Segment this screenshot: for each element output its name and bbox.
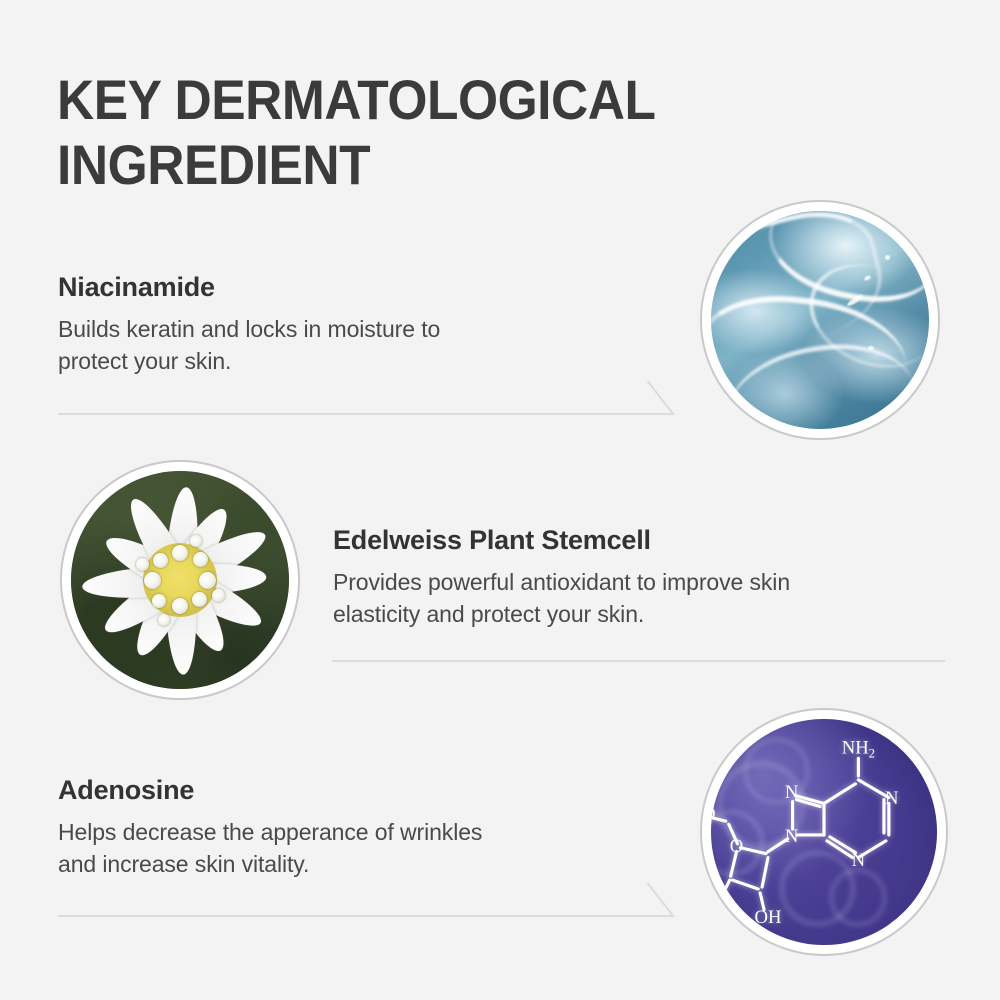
media-circle-niacinamide xyxy=(700,200,940,440)
flower-floret xyxy=(136,558,149,571)
edelweiss-flower-photo xyxy=(71,471,289,689)
flower-floret xyxy=(172,545,188,561)
page-title: KEY DERMATOLOGICAL INGREDIENT xyxy=(57,68,793,198)
flower-floret xyxy=(152,594,166,608)
molecule-label-ho-3prime: HO xyxy=(711,895,727,916)
ingredient-name-adenosine: Adenosine xyxy=(58,775,658,806)
infographic-page: KEY DERMATOLOGICAL INGREDIENT Niacinamid… xyxy=(0,0,1000,1000)
connector-elbow-1 xyxy=(647,380,675,415)
flower-floret xyxy=(193,552,208,567)
ingredient-name-niacinamide: Niacinamide xyxy=(58,272,658,303)
flower-floret xyxy=(144,572,161,589)
flower-floret xyxy=(199,572,216,589)
ingredient-description-niacinamide: Builds keratin and locks in moisture to … xyxy=(58,314,658,377)
adenosine-molecule-diagram: NH2 N N N N O HO HO OH xyxy=(711,719,937,945)
molecule-label-n1: N xyxy=(885,788,899,809)
flower-floret xyxy=(158,614,170,626)
water-gel-texture-photo xyxy=(711,211,929,429)
divider-line-3 xyxy=(58,915,674,917)
flower-floret xyxy=(153,553,168,568)
molecule-label-n3: N xyxy=(852,850,866,871)
ingredient-block-adenosine: Adenosine Helps decrease the apperance o… xyxy=(58,775,658,880)
ingredient-block-edelweiss: Edelweiss Plant Stemcell Provides powerf… xyxy=(333,525,958,630)
ingredient-block-niacinamide: Niacinamide Builds keratin and locks in … xyxy=(58,272,658,377)
flower-floret xyxy=(190,535,202,547)
ingredient-description-edelweiss: Provides powerful antioxidant to improve… xyxy=(333,567,958,630)
ingredient-name-edelweiss: Edelweiss Plant Stemcell xyxy=(333,525,958,556)
divider-line-1 xyxy=(58,413,674,415)
connector-elbow-3 xyxy=(647,882,675,917)
molecule-label-amine: NH2 xyxy=(842,738,875,761)
divider-line-2 xyxy=(332,660,945,662)
molecule-structure-svg: NH2 N N N N O HO HO OH xyxy=(711,719,937,945)
media-circle-adenosine: NH2 N N N N O HO HO OH xyxy=(700,708,948,956)
ingredient-description-adenosine: Helps decrease the apperance of wrinkles… xyxy=(58,817,658,880)
media-circle-edelweiss xyxy=(60,460,300,700)
molecule-label-n9: N xyxy=(785,826,799,847)
molecule-label-n7: N xyxy=(785,782,799,803)
molecule-label-ring-oxygen: O xyxy=(730,836,743,857)
molecule-label-ho-primary: HO xyxy=(711,804,716,825)
molecule-label-oh-2prime: OH xyxy=(755,907,782,928)
